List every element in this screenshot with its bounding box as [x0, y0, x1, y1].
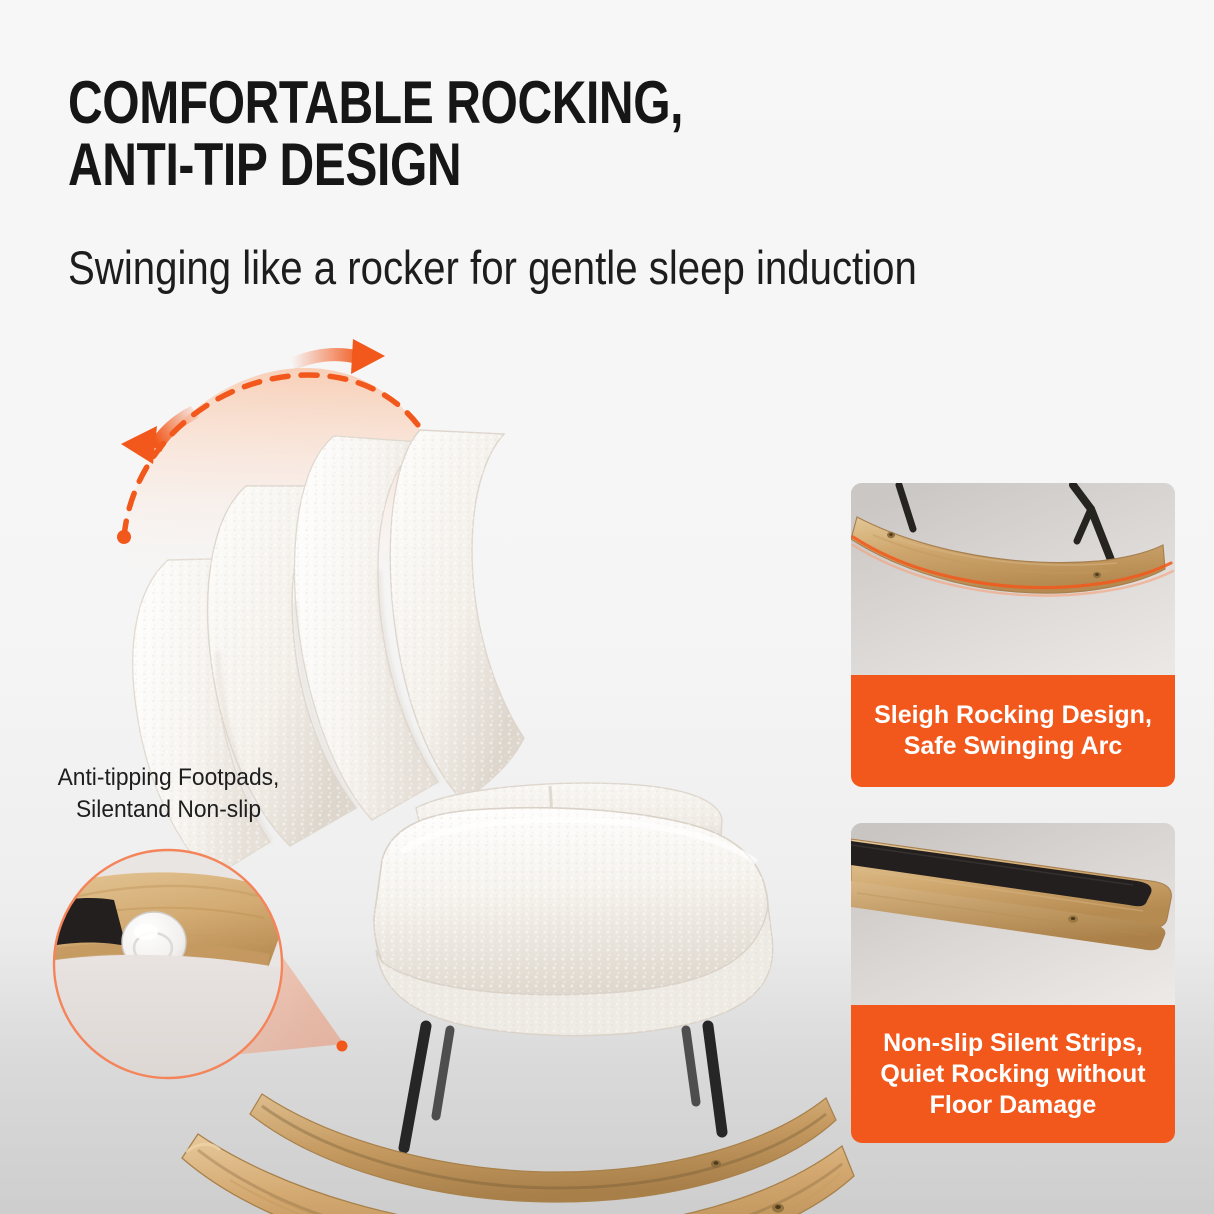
arc-endpoint-dot-right	[435, 471, 449, 485]
magnifier-connector-dot	[337, 1041, 348, 1052]
chair-seat-cushion	[416, 783, 722, 860]
arc-dashed-path	[124, 375, 442, 537]
arc-endpoint-dot-left	[117, 530, 131, 544]
infographic-canvas: COMFORTABLE ROCKING, ANTI-TIP DESIGN Swi…	[0, 0, 1214, 1214]
feature-card-2-label: Non-slip Silent Strips, Quiet Rocking wi…	[851, 1005, 1175, 1143]
feature-card-sleigh-rocking[interactable]: Sleigh Rocking Design, Safe Swinging Arc	[851, 483, 1175, 787]
feature-card-non-slip-strips[interactable]: Non-slip Silent Strips, Quiet Rocking wi…	[851, 823, 1175, 1143]
feature-card-2-photo	[851, 823, 1175, 1005]
rocker-runner-near	[182, 1134, 854, 1214]
chair-metal-legs	[404, 1026, 722, 1148]
arc-arrow-left	[121, 406, 199, 464]
chair-seat-base	[376, 906, 773, 1036]
rocker-runner-far	[250, 1094, 836, 1202]
arc-fill-region	[124, 368, 440, 577]
page-title: COMFORTABLE ROCKING, ANTI-TIP DESIGN	[68, 72, 916, 196]
page-subtitle: Swinging like a rocker for gentle sleep …	[68, 242, 1094, 294]
footpad-magnifier-circle	[52, 848, 284, 1080]
arc-arrow-right	[291, 339, 385, 374]
non-slip-strip	[32, 898, 126, 950]
feature-card-1-label: Sleigh Rocking Design, Safe Swinging Arc	[851, 675, 1175, 787]
feature-card-1-photo	[851, 483, 1175, 675]
chair-armrest	[374, 808, 768, 1010]
rocking-motion-arc	[95, 330, 515, 590]
footpad-callout-text: Anti-tipping Footpads, Silentand Non-sli…	[26, 762, 311, 825]
